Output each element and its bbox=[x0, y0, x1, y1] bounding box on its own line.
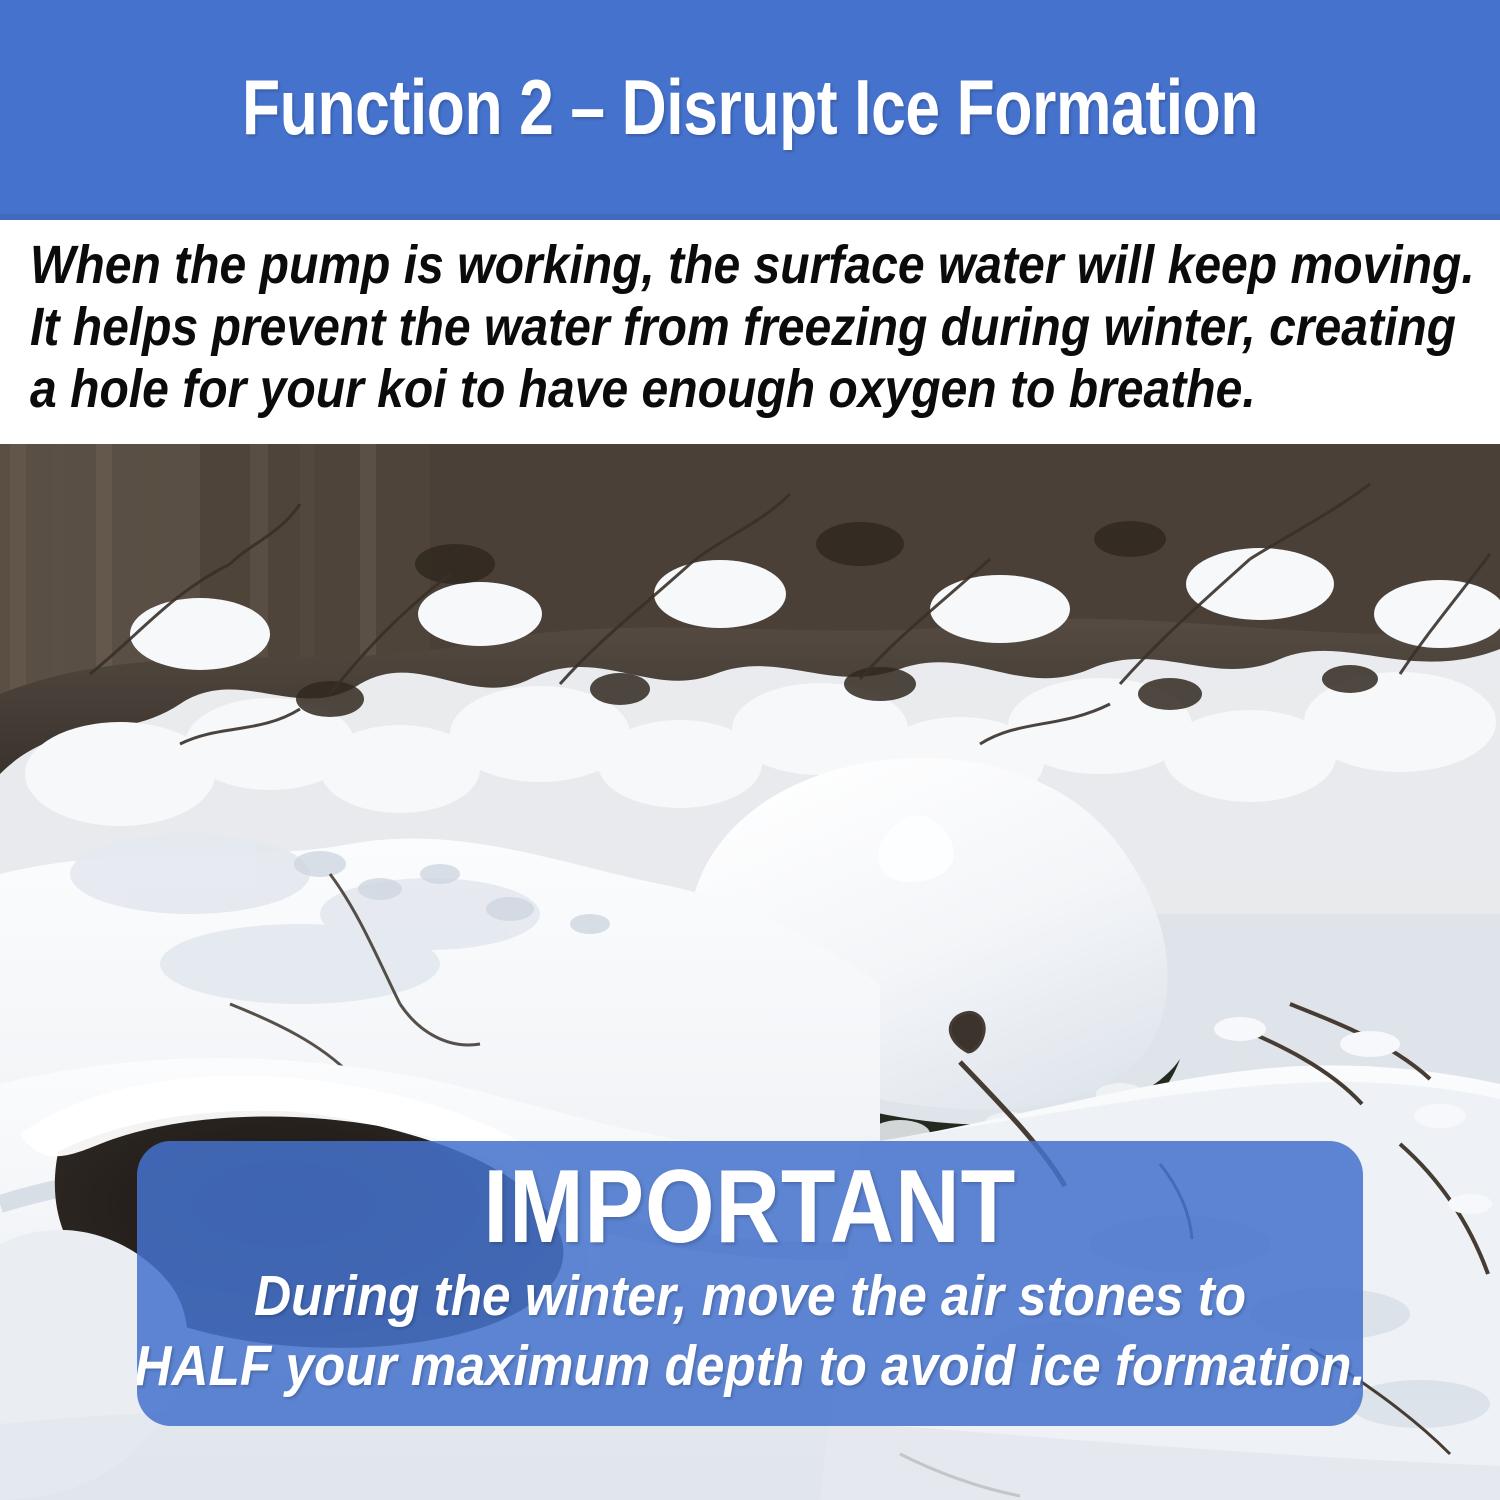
intro-line-3: a hole for your koi to have enough oxyge… bbox=[30, 358, 1315, 420]
important-callout: IMPORTANT During the winter, move the ai… bbox=[137, 1141, 1363, 1426]
callout-line-1: During the winter, move the air stones t… bbox=[254, 1261, 1246, 1331]
intro-line-1: When the pump is working, the surface wa… bbox=[30, 234, 1315, 296]
page-title: Function 2 – Disrupt Ice Formation bbox=[242, 68, 1258, 146]
intro-paragraph: When the pump is working, the surface wa… bbox=[0, 220, 1500, 444]
header-banner: Function 2 – Disrupt Ice Formation bbox=[0, 0, 1500, 214]
intro-line-2: It helps prevent the water from freezing… bbox=[30, 296, 1315, 358]
important-heading: IMPORTANT bbox=[484, 1153, 1017, 1261]
infographic-page: Function 2 – Disrupt Ice Formation When … bbox=[0, 0, 1500, 1500]
callout-line-2: HALF your maximum depth to avoid ice for… bbox=[137, 1331, 1363, 1401]
